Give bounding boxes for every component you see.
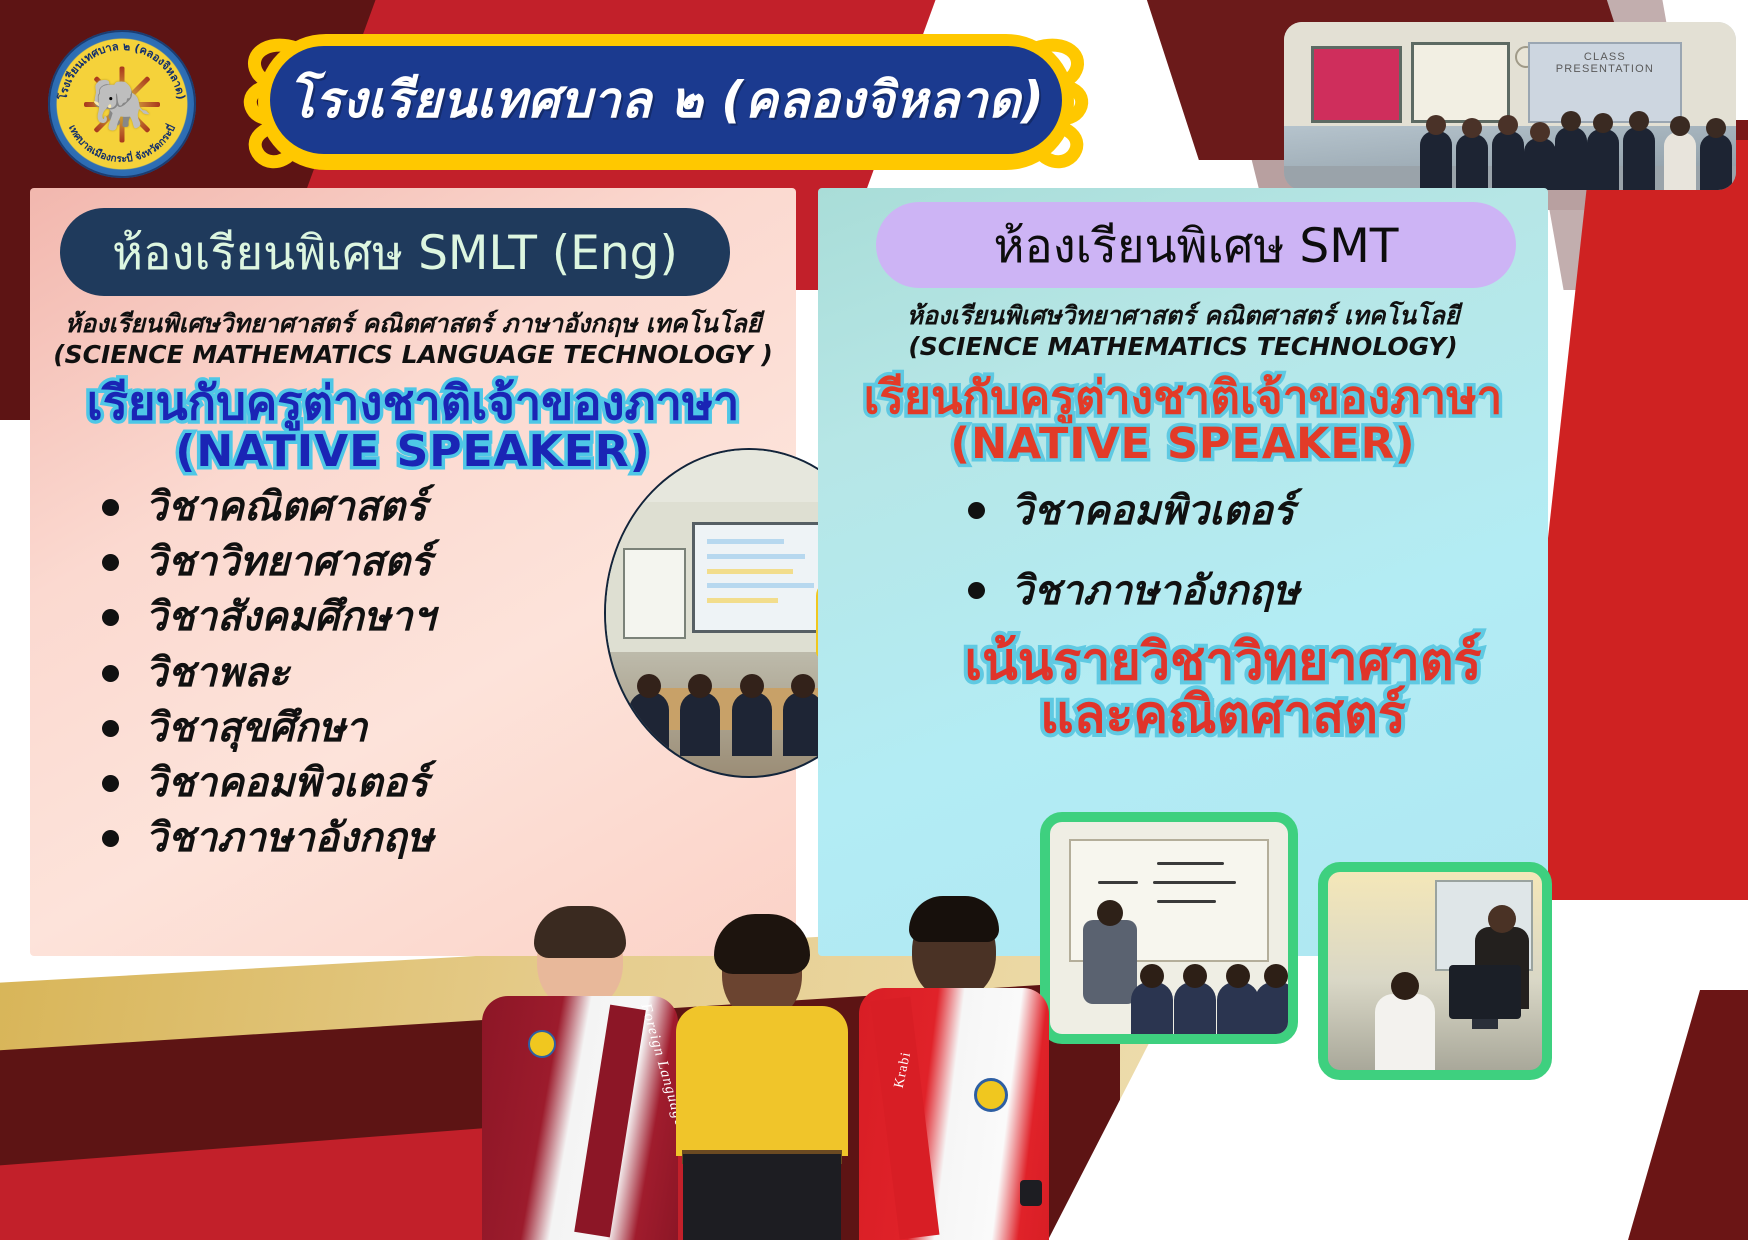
subject-label: วิชาสุขศึกษา	[145, 707, 367, 750]
subject-label: วิชาภาษาอังกฤษ	[1011, 558, 1299, 622]
list-item: วิชาวิทยาศาสตร์	[102, 541, 572, 584]
list-item: วิชาสังคมศึกษาฯ	[102, 596, 572, 639]
panel-smlt-subtitle-thai: ห้องเรียนพิเศษวิทยาศาสตร์ คณิตศาสตร์ ภาษ…	[30, 304, 796, 344]
teacher-red-white-polo: Krabi	[858, 902, 1050, 1240]
panel-smlt-subject-list: วิชาคณิตศาสตร์ วิชาวิทยาศาสตร์ วิชาสังคม…	[102, 486, 572, 872]
computer-lab-photo	[1318, 862, 1552, 1080]
school-badge-icon	[974, 1078, 1008, 1112]
teacher-yellow-polo	[672, 922, 852, 1240]
bullet-icon	[968, 502, 985, 519]
emphasis-line1: เน้นรายวิชาวิทยาศาตร์	[964, 632, 1481, 692]
school-logo: 🐘 โรงเรียนเทศบาล ๒ (คลองจิหลาด) เทศบาลเม…	[48, 30, 196, 178]
hair	[534, 906, 626, 958]
panel-smt-subtitle-english: (SCIENCE MATHEMATICS TECHNOLOGY)	[818, 332, 1548, 361]
bullet-icon	[102, 499, 119, 516]
polo-shirt	[676, 1006, 848, 1156]
bullet-icon	[102, 830, 119, 847]
panel-smt-title: ห้องเรียนพิเศษ SMT	[993, 208, 1398, 283]
poster-root: 🐘 โรงเรียนเทศบาล ๒ (คลองจิหลาด) เทศบาลเม…	[0, 0, 1748, 1240]
list-item: วิชาพละ	[102, 652, 572, 695]
list-item: วิชาภาษาอังกฤษ	[102, 817, 572, 860]
subject-label: วิชาคอมพิวเตอร์	[1011, 478, 1294, 542]
native-line2: (NATIVE SPEAKER)	[818, 422, 1548, 467]
panel-smt-emphasis: เน้นรายวิชาวิทยาศาตร์ และคณิตศาสตร์	[858, 636, 1588, 742]
subject-label: วิชาวิทยาศาสตร์	[145, 541, 432, 584]
trousers	[683, 1154, 841, 1240]
hair	[714, 914, 810, 974]
panel-smt-header: ห้องเรียนพิเศษ SMT	[876, 202, 1516, 288]
panel-smlt-title: ห้องเรียนพิเศษ SMLT (Eng)	[112, 215, 678, 290]
bullet-icon	[102, 775, 119, 792]
subject-label: วิชาคอมพิวเตอร์	[145, 762, 428, 805]
svg-text:เทศบาลเมืองกระบี่ จังหวัดกระบี: เทศบาลเมืองกระบี่ จังหวัดกระบี่	[66, 122, 178, 165]
wristwatch-icon	[1020, 1180, 1042, 1206]
teacher-foreign-languages: Foreign Languages	[480, 910, 680, 1240]
monitor-icon	[1449, 965, 1521, 1019]
list-item: วิชาภาษาอังกฤษ	[968, 558, 1438, 622]
bullet-icon	[102, 554, 119, 571]
logo-ring-text: โรงเรียนเทศบาล ๒ (คลองจิหลาด) เทศบาลเมือ…	[48, 30, 196, 178]
native-line1: เรียนกับครูต่างชาติเจ้าของภาษา	[87, 376, 740, 431]
list-item: วิชาคอมพิวเตอร์	[968, 478, 1438, 542]
school-badge-icon	[528, 1030, 556, 1058]
math-whiteboard-photo	[1040, 812, 1298, 1044]
teacher-writing	[1083, 920, 1137, 1004]
panel-smt-subject-list: วิชาคอมพิวเตอร์ วิชาภาษาอังกฤษ	[968, 478, 1438, 638]
subject-label: วิชาภาษาอังกฤษ	[145, 817, 433, 860]
emphasis-line2: และคณิตศาสตร์	[858, 689, 1588, 742]
title-banner: โรงเรียนเทศบาล ๒ (คลองจิหลาด)	[236, 26, 1096, 178]
projector-text-line1: CLASS	[1584, 51, 1626, 63]
class-presentation-photo: CLASS PRESENTATION	[1284, 22, 1736, 190]
svg-text:โรงเรียนเทศบาล ๒ (คลองจิหลาด): โรงเรียนเทศบาล ๒ (คลองจิหลาด)	[55, 40, 187, 102]
projector-text-line2: PRESENTATION	[1556, 63, 1654, 75]
logo-ring-top-text: โรงเรียนเทศบาล ๒ (คลองจิหลาด)	[55, 40, 187, 102]
bullet-icon	[102, 665, 119, 682]
list-item: วิชาสุขศึกษา	[102, 707, 572, 750]
subject-label: วิชาคณิตศาสตร์	[145, 486, 427, 529]
bullet-icon	[102, 609, 119, 626]
bullet-icon	[968, 582, 985, 599]
list-item: วิชาคณิตศาสตร์	[102, 486, 572, 529]
logo-ring-bottom-text: เทศบาลเมืองกระบี่ จังหวัดกระบี่	[66, 122, 178, 165]
page-title: โรงเรียนเทศบาล ๒ (คลองจิหลาด)	[288, 61, 1045, 140]
native-line1: เรียนกับครูต่างชาติเจ้าของภาษา	[864, 370, 1503, 424]
student-at-computer	[1375, 994, 1435, 1070]
panel-smt-subtitle-thai: ห้องเรียนพิเศษวิทยาศาสตร์ คณิตศาสตร์ เทค…	[818, 296, 1548, 336]
panel-smlt-subtitle-english: (SCIENCE MATHEMATICS LANGUAGE TECHNOLOGY…	[30, 340, 796, 369]
panel-smlt-header: ห้องเรียนพิเศษ SMLT (Eng)	[60, 208, 730, 296]
subject-label: วิชาสังคมศึกษาฯ	[145, 596, 435, 639]
title-blue-plate: โรงเรียนเทศบาล ๒ (คลองจิหลาด)	[270, 46, 1062, 154]
hair	[909, 896, 999, 942]
subject-label: วิชาพละ	[145, 652, 289, 695]
list-item: วิชาคอมพิวเตอร์	[102, 762, 572, 805]
bullet-icon	[102, 720, 119, 737]
panel-smt-native-speaker: เรียนกับครูต่างชาติเจ้าของภาษา (NATIVE S…	[818, 374, 1548, 467]
